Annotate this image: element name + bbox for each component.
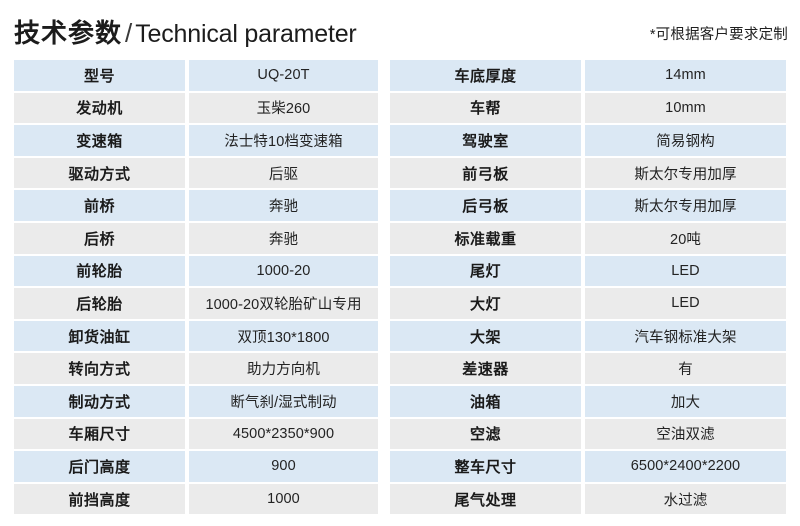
spec-value: 奔驰 <box>189 223 378 254</box>
page-title-english: Technical parameter <box>135 20 356 48</box>
spec-value: 20吨 <box>585 223 786 254</box>
table-row: 油箱加大 <box>390 386 786 419</box>
spec-label: 大架 <box>390 321 581 352</box>
spec-value: 空油双滤 <box>585 419 786 450</box>
spec-label: 发动机 <box>14 93 185 124</box>
spec-value: 14mm <box>585 60 786 91</box>
table-row: 转向方式助力方向机 <box>14 353 378 386</box>
table-row: 驾驶室简易钢构 <box>390 125 786 158</box>
page-title-chinese: 技术参数 <box>14 18 122 48</box>
spec-label: 油箱 <box>390 386 581 417</box>
table-row: 前桥奔驰 <box>14 190 378 223</box>
spec-label: 尾灯 <box>390 256 581 287</box>
spec-value: 1000-20双轮胎矿山专用 <box>189 288 378 319</box>
spec-value: LED <box>585 288 786 319</box>
spec-value: 斯太尔专用加厚 <box>585 158 786 189</box>
spec-value: 简易钢构 <box>585 125 786 156</box>
spec-value: 后驱 <box>189 158 378 189</box>
table-row: 标准载重20吨 <box>390 223 786 256</box>
table-row: 驱动方式后驱 <box>14 158 378 191</box>
spec-label: 制动方式 <box>14 386 185 417</box>
table-row: 后门高度900 <box>14 451 378 484</box>
table-row: 车厢尺寸4500*2350*900 <box>14 419 378 452</box>
table-row: 车底厚度14mm <box>390 60 786 93</box>
spec-value: 双顶130*1800 <box>189 321 378 352</box>
spec-label: 后轮胎 <box>14 288 185 319</box>
spec-value: 水过滤 <box>585 484 786 515</box>
spec-label: 前桥 <box>14 190 185 221</box>
spec-label: 前轮胎 <box>14 256 185 287</box>
table-row: 后桥奔驰 <box>14 223 378 256</box>
spec-label: 型号 <box>14 60 185 91</box>
spec-table-right: 车底厚度14mm车帮10mm驾驶室简易钢构前弓板斯太尔专用加厚后弓板斯太尔专用加… <box>390 60 786 516</box>
spec-value: LED <box>585 256 786 287</box>
spec-label: 变速箱 <box>14 125 185 156</box>
page-title-separator: / <box>122 18 135 48</box>
spec-label: 驾驶室 <box>390 125 581 156</box>
spec-label: 车底厚度 <box>390 60 581 91</box>
page-title: 技术参数/Technical parameter <box>14 17 357 50</box>
spec-label: 后桥 <box>14 223 185 254</box>
table-row: 发动机玉柴260 <box>14 93 378 126</box>
table-row: 差速器有 <box>390 353 786 386</box>
table-row: 尾灯LED <box>390 256 786 289</box>
table-row: 大灯LED <box>390 288 786 321</box>
spec-tables-container: 型号UQ-20T发动机玉柴260变速箱法士特10档变速箱驱动方式后驱前桥奔驰后桥… <box>0 60 800 520</box>
spec-label: 后门高度 <box>14 451 185 482</box>
table-row: 大架汽车钢标准大架 <box>390 321 786 354</box>
technical-parameter-sheet: 技术参数/Technical parameter *可根据客户要求定制 型号UQ… <box>0 0 800 526</box>
spec-value: 汽车钢标准大架 <box>585 321 786 352</box>
spec-value: UQ-20T <box>189 60 378 91</box>
table-row: 型号UQ-20T <box>14 60 378 93</box>
spec-label: 差速器 <box>390 353 581 384</box>
sheet-header: 技术参数/Technical parameter *可根据客户要求定制 <box>0 0 800 60</box>
spec-label: 整车尺寸 <box>390 451 581 482</box>
table-row: 卸货油缸双顶130*1800 <box>14 321 378 354</box>
spec-value: 900 <box>189 451 378 482</box>
table-row: 整车尺寸6500*2400*2200 <box>390 451 786 484</box>
table-row: 空滤空油双滤 <box>390 419 786 452</box>
spec-value: 1000 <box>189 484 378 515</box>
spec-label: 卸货油缸 <box>14 321 185 352</box>
spec-label: 大灯 <box>390 288 581 319</box>
table-row: 前弓板斯太尔专用加厚 <box>390 158 786 191</box>
spec-value: 斯太尔专用加厚 <box>585 190 786 221</box>
spec-value: 玉柴260 <box>189 93 378 124</box>
table-row: 尾气处理水过滤 <box>390 484 786 517</box>
spec-label: 驱动方式 <box>14 158 185 189</box>
spec-value: 加大 <box>585 386 786 417</box>
spec-value: 10mm <box>585 93 786 124</box>
spec-table-left: 型号UQ-20T发动机玉柴260变速箱法士特10档变速箱驱动方式后驱前桥奔驰后桥… <box>14 60 378 516</box>
spec-label: 车帮 <box>390 93 581 124</box>
table-row: 后轮胎1000-20双轮胎矿山专用 <box>14 288 378 321</box>
table-row: 前轮胎1000-20 <box>14 256 378 289</box>
spec-label: 标准载重 <box>390 223 581 254</box>
spec-label: 车厢尺寸 <box>14 419 185 450</box>
spec-label: 尾气处理 <box>390 484 581 515</box>
table-row: 车帮10mm <box>390 93 786 126</box>
spec-label: 前弓板 <box>390 158 581 189</box>
table-row: 变速箱法士特10档变速箱 <box>14 125 378 158</box>
spec-value: 助力方向机 <box>189 353 378 384</box>
spec-value: 6500*2400*2200 <box>585 451 786 482</box>
spec-label: 前挡高度 <box>14 484 185 515</box>
spec-label: 空滤 <box>390 419 581 450</box>
spec-label: 转向方式 <box>14 353 185 384</box>
customization-note: *可根据客户要求定制 <box>650 26 788 44</box>
table-row: 制动方式断气刹/湿式制动 <box>14 386 378 419</box>
spec-value: 4500*2350*900 <box>189 419 378 450</box>
spec-value: 法士特10档变速箱 <box>189 125 378 156</box>
spec-value: 有 <box>585 353 786 384</box>
spec-label: 后弓板 <box>390 190 581 221</box>
spec-value: 断气刹/湿式制动 <box>189 386 378 417</box>
spec-value: 1000-20 <box>189 256 378 287</box>
table-row: 前挡高度1000 <box>14 484 378 517</box>
spec-value: 奔驰 <box>189 190 378 221</box>
table-row: 后弓板斯太尔专用加厚 <box>390 190 786 223</box>
